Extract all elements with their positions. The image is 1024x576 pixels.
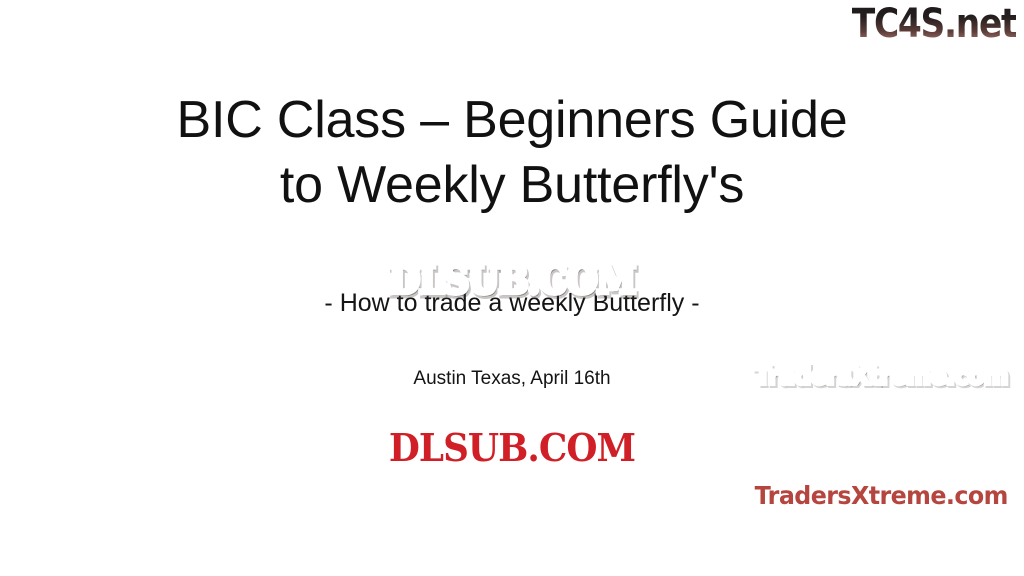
- slide-venue-date: Austin Texas, April 16th: [0, 367, 1024, 391]
- slide-title-line-2: to Weekly Butterfly's: [0, 153, 1024, 218]
- presentation-slide: TC4S.net TC4S.net BIC Class – Beginners …: [0, 0, 1024, 576]
- slide-title: BIC Class – Beginners Guide to Weekly Bu…: [0, 88, 1024, 218]
- slide-subtitle: - How to trade a weekly Butterfly -: [0, 288, 1024, 318]
- slide-title-line-1: BIC Class – Beginners Guide: [0, 88, 1024, 153]
- tc4s-net-text: TC4S.net: [852, 2, 1016, 46]
- watermark-tradersxtreme-com: TradersXtreme.com TradersXtreme.com Trad…: [748, 361, 1014, 571]
- tradersxtreme-com-wordmark: TradersXtreme.com TradersXtreme.com Trad…: [754, 361, 1007, 571]
- tradersxtreme-com-fill-layer: TradersXtreme.com: [754, 481, 1007, 511]
- dlsub-com-fill-layer: DLSUB.COM: [389, 427, 635, 469]
